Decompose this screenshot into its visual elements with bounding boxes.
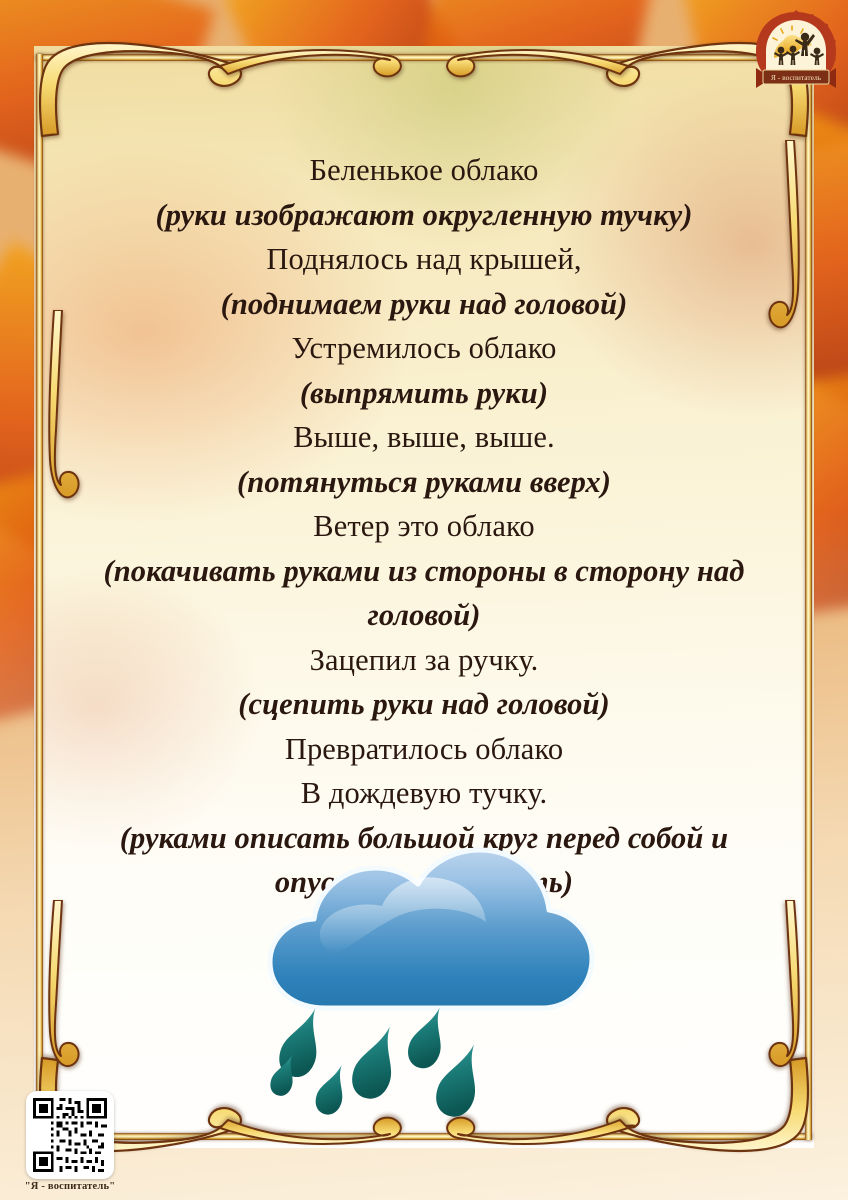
poem-line: (руки изображают округленную тучку)	[52, 193, 796, 238]
ribbon-banner: Я - воспитатель	[756, 68, 836, 88]
poem-line: Беленькое облако	[52, 148, 796, 193]
poem-text: Беленькое облако (руки изображают округл…	[52, 148, 796, 905]
poem-line: Выше, выше, выше.	[52, 415, 796, 460]
poem-line: (покачивать руками из стороны в сторону …	[52, 549, 796, 638]
raindrop-group	[267, 1002, 490, 1121]
raindrop	[347, 1020, 406, 1104]
poem-line: Устремилось облако	[52, 326, 796, 371]
qr-code-image	[26, 1091, 114, 1179]
poem-line: В дождевую тучку.	[52, 771, 796, 816]
poem-line: Превратилось облако	[52, 727, 796, 772]
qr-caption: "Я - воспитатель"	[18, 1181, 122, 1192]
cloud-shape	[270, 850, 592, 1008]
poem-line: Поднялось над крышей,	[52, 237, 796, 282]
ya-vospitatel-logo[interactable]: Я - воспитатель	[750, 8, 842, 92]
rain-cloud-illustration	[0, 836, 848, 1126]
poem-line: (выпрямить руки)	[52, 371, 796, 416]
poem-line: (сцепить руки над головой)	[52, 682, 796, 727]
logo-caption: Я - воспитатель	[771, 73, 822, 82]
raindrop	[312, 1061, 353, 1118]
qr-watermark[interactable]: "Я - воспитатель"	[18, 1091, 122, 1192]
raindrop	[403, 1002, 453, 1072]
poem-line: Зацепил за ручку.	[52, 638, 796, 683]
poem-line: (потянуться руками вверх)	[52, 460, 796, 505]
poem-line: (поднимаем руки над головой)	[52, 282, 796, 327]
poem-line: Ветер это облако	[52, 504, 796, 549]
